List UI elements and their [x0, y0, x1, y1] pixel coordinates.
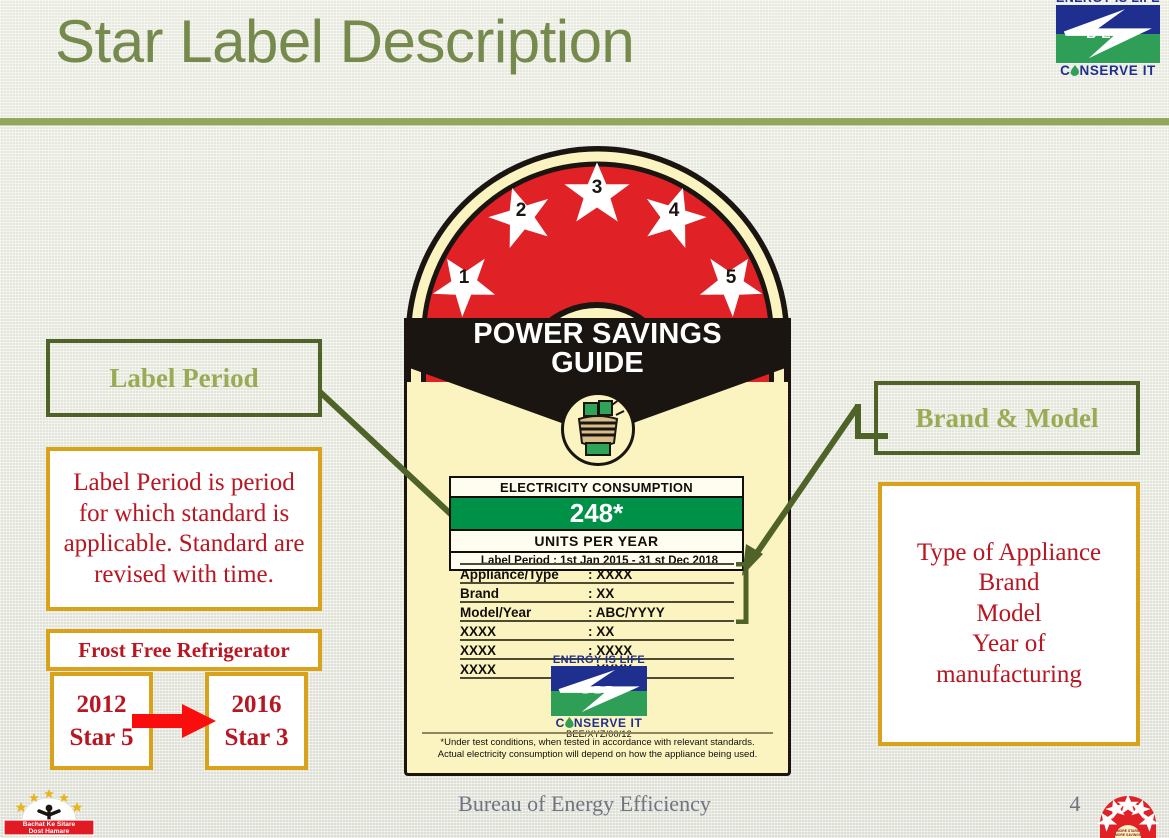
spec-value: : XXXX	[588, 567, 734, 582]
bee-logo-label-bottom-prefix: C	[556, 716, 565, 730]
table-row: Appliance/Type : XXXX	[460, 563, 734, 584]
callout-label-period-body: Label Period is period for which standar…	[46, 447, 322, 611]
star-number: 4	[669, 200, 680, 221]
callout-label-period-title-text: Label Period	[109, 363, 258, 394]
right-arrow-icon	[132, 703, 216, 739]
table-row: XXXX : XX	[460, 622, 734, 641]
bee-logo-bottom-suffix: NSERVE IT	[1079, 63, 1155, 78]
brand-model-line: manufacturing	[917, 660, 1101, 691]
page-title: Star Label Description	[55, 7, 634, 78]
consumption-value: 248*	[451, 498, 742, 531]
brand-model-line: Year of	[917, 629, 1101, 660]
year-box-2016-year: 2016	[232, 688, 282, 721]
consumption-units: UNITS PER YEAR	[451, 531, 742, 553]
callout-frost-free-title: Frost Free Refrigerator	[46, 629, 322, 671]
brand-model-line: Brand	[917, 568, 1101, 599]
callout-frost-free-title-text: Frost Free Refrigerator	[78, 638, 289, 663]
star-number: 3	[592, 177, 603, 198]
bee-logo-bottom-text: CNSERVE IT	[1056, 63, 1160, 79]
bee-logo-mid-text: BEE	[1056, 25, 1160, 41]
mini-star-label-icon: MORE STARS MORE SAVINGS	[1097, 794, 1159, 838]
footnote-line2: Actual electricity consumption will depe…	[422, 749, 773, 761]
footer-organization: Bureau of Energy Efficiency	[0, 791, 1169, 817]
callout-brand-model-body: Type of Appliance Brand Model Year of ma…	[878, 482, 1140, 746]
star-number: 1	[459, 267, 470, 288]
table-row: Brand : XX	[460, 584, 734, 603]
year-box-2016-rating: Star 3	[224, 721, 288, 754]
page-number: 4	[1055, 791, 1095, 817]
callout-brand-model-title: Brand & Model	[874, 381, 1140, 455]
appliance-mascot-glyph	[564, 395, 632, 463]
spec-key: Appliance/Type	[460, 567, 588, 582]
bee-logo-emblem: BEE	[1056, 5, 1160, 63]
star-number: 2	[516, 200, 527, 221]
star-label-band-line1: POWER SAVINGS	[404, 320, 791, 349]
callout-label-period-body-text: Label Period is period for which standar…	[58, 468, 310, 590]
bachat-logo-line2: Dost Hamare	[29, 828, 70, 835]
water-drop-icon	[565, 717, 574, 728]
bee-logo-label-bottom-suffix: NSERVE IT	[574, 716, 643, 730]
year-box-2012-year: 2012	[77, 688, 127, 721]
water-drop-icon	[1070, 65, 1079, 76]
bee-logo-label-mid-text: BEE	[551, 684, 647, 696]
bee-logo-header: ENERGY IS LIFE BEE CNSERVE IT	[1056, 0, 1160, 103]
star-number: 5	[726, 267, 737, 288]
spec-key: Model/Year	[460, 605, 588, 620]
consumption-heading: ELECTRICITY CONSUMPTION	[451, 478, 742, 498]
appliance-mascot-icon	[561, 392, 635, 466]
star-label-footnote: *Under test conditions, when tested in a…	[422, 732, 773, 761]
spec-group-bracket	[733, 562, 751, 624]
bee-logo-label-top-text: ENERGY IS LIFE	[551, 654, 647, 666]
callout-brand-model-title-text: Brand & Model	[915, 403, 1098, 434]
brand-model-line: Type of Appliance	[917, 538, 1101, 569]
table-row: Model/Year : ABC/YYYY	[460, 603, 734, 622]
spec-value: : XX	[588, 586, 734, 601]
year-box-2016: 2016 Star 3	[205, 672, 308, 770]
electricity-consumption-table: ELECTRICITY CONSUMPTION 248* UNITS PER Y…	[449, 476, 744, 571]
header-divider	[0, 118, 1169, 125]
year-box-2012-rating: Star 5	[69, 721, 133, 754]
star-label-band-line2: GUIDE	[404, 349, 791, 378]
star-label-artwork: 1 2 3 4 5 MORE STARS MORE SAVINGS POWER …	[404, 142, 791, 776]
spec-key: Brand	[460, 586, 588, 601]
callout-brand-model-body-list: Type of Appliance Brand Model Year of ma…	[917, 538, 1101, 691]
spec-value: : ABC/YYYY	[588, 605, 734, 620]
spec-value: : XX	[588, 624, 734, 639]
bee-logo-label-bottom-text: CNSERVE IT	[551, 716, 647, 730]
bee-logo-label-emblem: BEE	[551, 666, 647, 716]
bee-logo-bottom-prefix: C	[1060, 63, 1070, 78]
footnote-line1: *Under test conditions, when tested in a…	[422, 737, 773, 749]
callout-label-period-title: Label Period	[46, 339, 322, 417]
mini-label-line2: MORE SAVINGS	[1115, 833, 1142, 837]
bee-logo-label: ENERGY IS LIFE BEE CNSERVE IT BEE/XYZ/00…	[551, 654, 647, 739]
bachat-ke-sitare-logo: Bachat Ke Sitare Dost Hamare	[3, 786, 95, 836]
brand-model-line: Model	[917, 599, 1101, 630]
spec-key: XXXX	[460, 624, 588, 639]
star-label-band-text: POWER SAVINGS GUIDE	[404, 320, 791, 378]
